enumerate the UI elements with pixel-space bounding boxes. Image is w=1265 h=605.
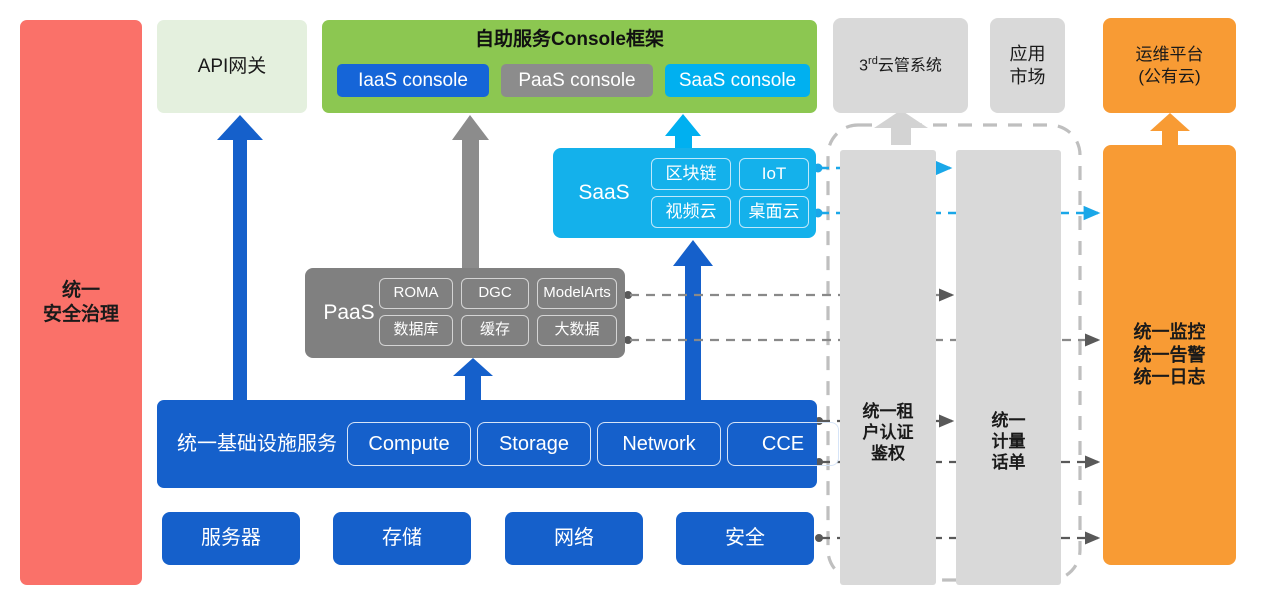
console-frame-title: 自助服务Console框架: [322, 28, 817, 52]
ops-capability-monitor: 统一监控: [1134, 321, 1206, 344]
paas-chip-modelarts[interactable]: ModelArts: [537, 278, 617, 309]
resource-security-label: 安全: [725, 526, 765, 551]
security-label-line2: 安全治理: [43, 303, 119, 327]
security-label-line1: 统一: [43, 279, 119, 303]
app-market-line1: 应用: [1010, 43, 1046, 66]
unified-infrastructure-service-bar[interactable]: 统一基础设施服务 Compute Storage Network CCE: [157, 400, 817, 488]
paas-chip-roma[interactable]: ROMA: [379, 278, 453, 309]
paas-console-label: PaaS console: [518, 69, 635, 93]
paas-chip-cache[interactable]: 缓存: [461, 315, 529, 346]
ops-platform-box[interactable]: 运维平台 (公有云): [1103, 18, 1236, 113]
paas-chip-database-label: 数据库: [393, 321, 438, 340]
ops-platform-line2: (公有云): [1136, 66, 1204, 87]
infra-chip-storage[interactable]: Storage: [477, 422, 591, 466]
api-gateway-box[interactable]: API网关: [157, 20, 307, 113]
paas-chip-roma-label: ROMA: [394, 284, 439, 303]
saas-layer-label: SaaS: [565, 148, 643, 238]
resource-box-storage[interactable]: 存储: [333, 512, 471, 565]
saas-console-chip[interactable]: SaaS console: [665, 64, 810, 97]
ops-capability-log: 统一日志: [1134, 366, 1206, 389]
paas-chip-dgc-label: DGC: [478, 284, 511, 303]
meter-line3: 话单: [992, 452, 1026, 473]
unified-metering-column[interactable]: 统一 计量 话单: [956, 150, 1061, 585]
infra-chip-network[interactable]: Network: [597, 422, 721, 466]
paas-chip-cache-label: 缓存: [480, 321, 510, 340]
meter-line2: 计量: [992, 431, 1026, 452]
third-cloud-suffix: 云管系统: [878, 57, 942, 74]
third-cloud-prefix: 3: [859, 57, 868, 74]
unified-tenant-auth-column[interactable]: 统一租 户认证 鉴权: [840, 150, 936, 585]
resource-box-server[interactable]: 服务器: [162, 512, 300, 565]
infra-chip-compute[interactable]: Compute: [347, 422, 471, 466]
resource-server-label: 服务器: [201, 526, 261, 551]
third-cloud-superscript: rd: [868, 55, 878, 67]
paas-chip-dgc[interactable]: DGC: [461, 278, 529, 309]
saas-chip-iot-label: IoT: [762, 163, 787, 184]
paas-chip-bigdata[interactable]: 大数据: [537, 315, 617, 346]
infrastructure-label: 统一基础设施服务: [167, 400, 347, 488]
paas-chip-bigdata-label: 大数据: [554, 321, 599, 340]
iaas-console-chip[interactable]: IaaS console: [337, 64, 489, 97]
saas-chip-desktop-cloud-label: 桌面云: [749, 201, 800, 222]
infra-chip-network-label: Network: [622, 432, 695, 457]
infra-chip-cce-label: CCE: [762, 432, 804, 457]
resource-box-security[interactable]: 安全: [676, 512, 814, 565]
app-market-line2: 市场: [1010, 66, 1046, 89]
app-market-box[interactable]: 应用 市场: [990, 18, 1065, 113]
saas-chip-blockchain-label: 区块链: [666, 163, 717, 184]
paas-chip-database[interactable]: 数据库: [379, 315, 453, 346]
iaas-console-label: IaaS console: [358, 69, 468, 93]
saas-console-label: SaaS console: [679, 69, 796, 93]
ops-platform-line1: 运维平台: [1136, 44, 1204, 65]
arrow-paas-to-console: [452, 115, 489, 268]
api-gateway-label: API网关: [198, 55, 267, 79]
ops-capability-alarm: 统一告警: [1134, 344, 1206, 367]
third-party-cloud-mgmt-box[interactable]: 3rd云管系统: [833, 18, 968, 113]
infra-chip-cce[interactable]: CCE: [727, 422, 839, 466]
infra-chip-storage-label: Storage: [499, 432, 569, 457]
paas-layer-label: PaaS: [313, 268, 385, 358]
infra-chip-compute-label: Compute: [368, 432, 449, 457]
arrow-infra-to-saas: [673, 240, 713, 400]
auth-line1: 统一租: [863, 401, 914, 422]
resource-box-network[interactable]: 网络: [505, 512, 643, 565]
saas-chip-desktop-cloud[interactable]: 桌面云: [739, 196, 809, 228]
arrow-shared-to-third-cloud: [874, 110, 928, 145]
auth-line3: 鉴权: [863, 443, 914, 464]
architecture-diagram: 统一 安全治理 API网关 自助服务Console框架 IaaS console…: [0, 0, 1265, 605]
self-service-console-frame[interactable]: 自助服务Console框架 IaaS console PaaS console …: [322, 20, 817, 113]
paas-console-chip[interactable]: PaaS console: [501, 64, 653, 97]
unified-security-governance-box[interactable]: 统一 安全治理: [20, 20, 142, 585]
saas-chip-iot[interactable]: IoT: [739, 158, 809, 190]
resource-storage-label: 存储: [382, 526, 422, 551]
saas-layer-box[interactable]: SaaS 区块链 IoT 视频云 桌面云: [553, 148, 816, 238]
saas-chip-video-cloud-label: 视频云: [666, 201, 717, 222]
saas-chip-video-cloud[interactable]: 视频云: [651, 196, 731, 228]
ops-capabilities-column[interactable]: 统一监控 统一告警 统一日志: [1103, 145, 1236, 565]
arrow-ops-body-to-top: [1150, 113, 1190, 147]
paas-layer-box[interactable]: PaaS ROMA DGC ModelArts 数据库 缓存 大数据: [305, 268, 625, 358]
arrow-saas-to-console: [665, 114, 701, 150]
saas-chip-blockchain[interactable]: 区块链: [651, 158, 731, 190]
arrow-infra-to-paas: [453, 358, 493, 400]
auth-line2: 户认证: [863, 422, 914, 443]
resource-network-label: 网络: [554, 526, 594, 551]
arrow-infra-to-apigw: [217, 115, 263, 400]
paas-chip-modelarts-label: ModelArts: [543, 284, 611, 303]
meter-line1: 统一: [992, 410, 1026, 431]
